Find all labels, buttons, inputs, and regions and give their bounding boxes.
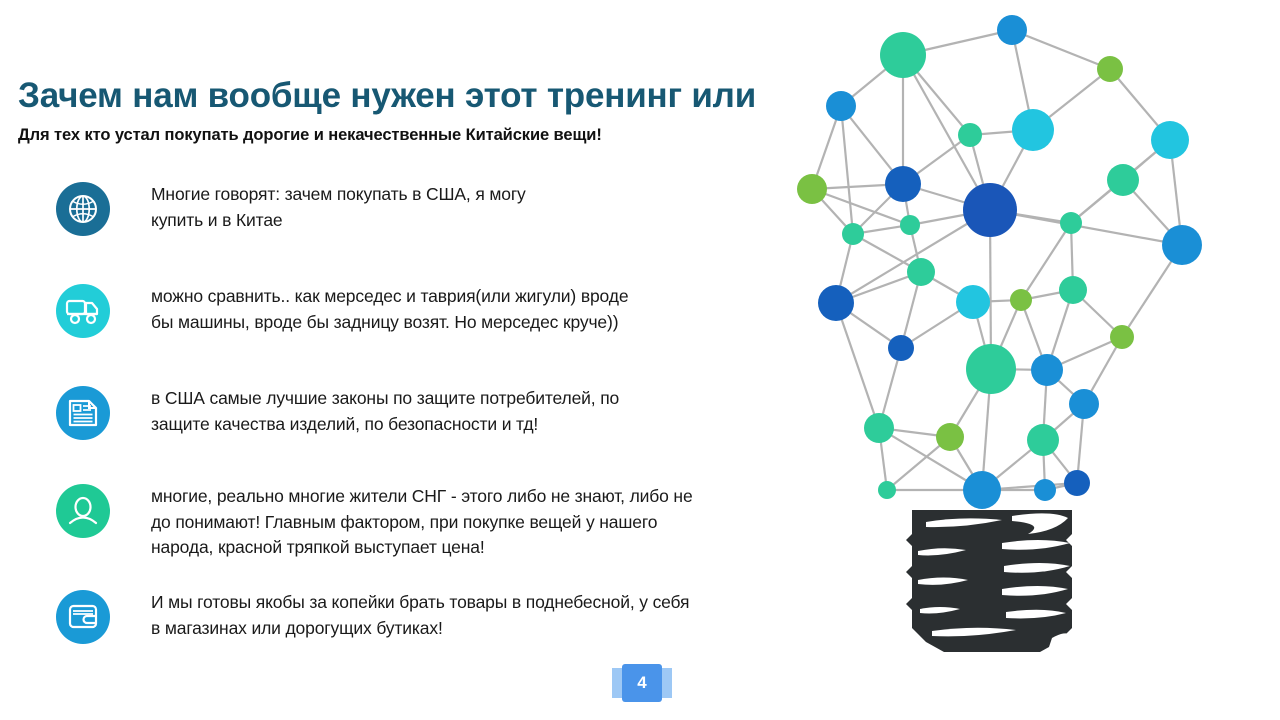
network-node [956,285,990,319]
network-node [880,32,926,78]
list-item-line: И мы готовы якобы за копейки брать товар… [151,590,866,616]
network-node [1064,470,1090,496]
network-node [997,15,1027,45]
list-item: можно сравнить.. как мерседес и таврия(и… [56,280,866,372]
list-item-text: Многие говорят: зачем покупать в США, я … [151,178,866,233]
list-item-line: бы машины, вроде бы задницу возят. Но ме… [151,310,866,336]
list-item-line: Многие говорят: зачем покупать в США, я … [151,182,866,208]
slide: Зачем нам вообще нужен этот тренинг или … [0,0,1280,720]
list-item-line: можно сравнить.. как мерседес и таврия(и… [151,284,866,310]
list-item-line: купить и в Китае [151,208,866,234]
list-item: И мы готовы якобы за копейки брать товар… [56,586,866,656]
network-node [1097,56,1123,82]
network-node [878,481,896,499]
network-node [1027,424,1059,456]
list-item-line: в магазинах или дорогущих бутиках! [151,616,866,642]
truck-icon [56,284,110,338]
network-node [1010,289,1032,311]
network-node [900,215,920,235]
network-node [888,335,914,361]
network-node [907,258,935,286]
network-node [966,344,1016,394]
list-item: Многие говорят: зачем покупать в США, я … [56,178,866,270]
list-item-text: И мы готовы якобы за копейки брать товар… [151,586,866,641]
network-node [1059,276,1087,304]
badge-wing-left [612,668,622,698]
person-icon [56,484,110,538]
badge-wing-right [662,668,672,698]
list-item-line: защите качества изделий, по безопасности… [151,412,866,438]
network-node [1107,164,1139,196]
bulb-base-icon [906,510,1072,652]
network-node [963,471,1001,509]
list-item: в США самые лучшие законы по защите потр… [56,382,866,470]
network-node [963,183,1017,237]
network-node [1069,389,1099,419]
list-item-line: народа, красной тряпкой выступает цена! [151,535,866,561]
list-item-text: можно сравнить.. как мерседес и таврия(и… [151,280,866,335]
network-node [936,423,964,451]
bullet-list: Многие говорят: зачем покупать в США, я … [56,178,866,666]
network-node [864,413,894,443]
list-item-line: до понимают! Главным фактором, при покуп… [151,510,866,536]
network-node [958,123,982,147]
list-item-text: в США самые лучшие законы по защите потр… [151,382,866,437]
page-subtitle: Для тех кто устал покупать дорогие и нек… [18,126,848,145]
network-node [1060,212,1082,234]
network-node [1034,479,1056,501]
list-item-line: многие, реально многие жители СНГ - этог… [151,484,866,510]
network-node [1012,109,1054,151]
page-title: Зачем нам вообще нужен этот тренинг или [18,76,858,115]
list-item: многие, реально многие жители СНГ - этог… [56,480,866,576]
network-node [1151,121,1189,159]
network-node [1162,225,1202,265]
list-item-line: в США самые лучшие законы по защите потр… [151,386,866,412]
list-item-text: многие, реально многие жители СНГ - этог… [151,480,866,561]
page-number-badge: 4 [612,664,672,702]
globe-icon [56,182,110,236]
page-number: 4 [622,664,662,702]
document-icon [56,386,110,440]
network-node [1031,354,1063,386]
wallet-icon [56,590,110,644]
network-node [885,166,921,202]
network-node [1110,325,1134,349]
